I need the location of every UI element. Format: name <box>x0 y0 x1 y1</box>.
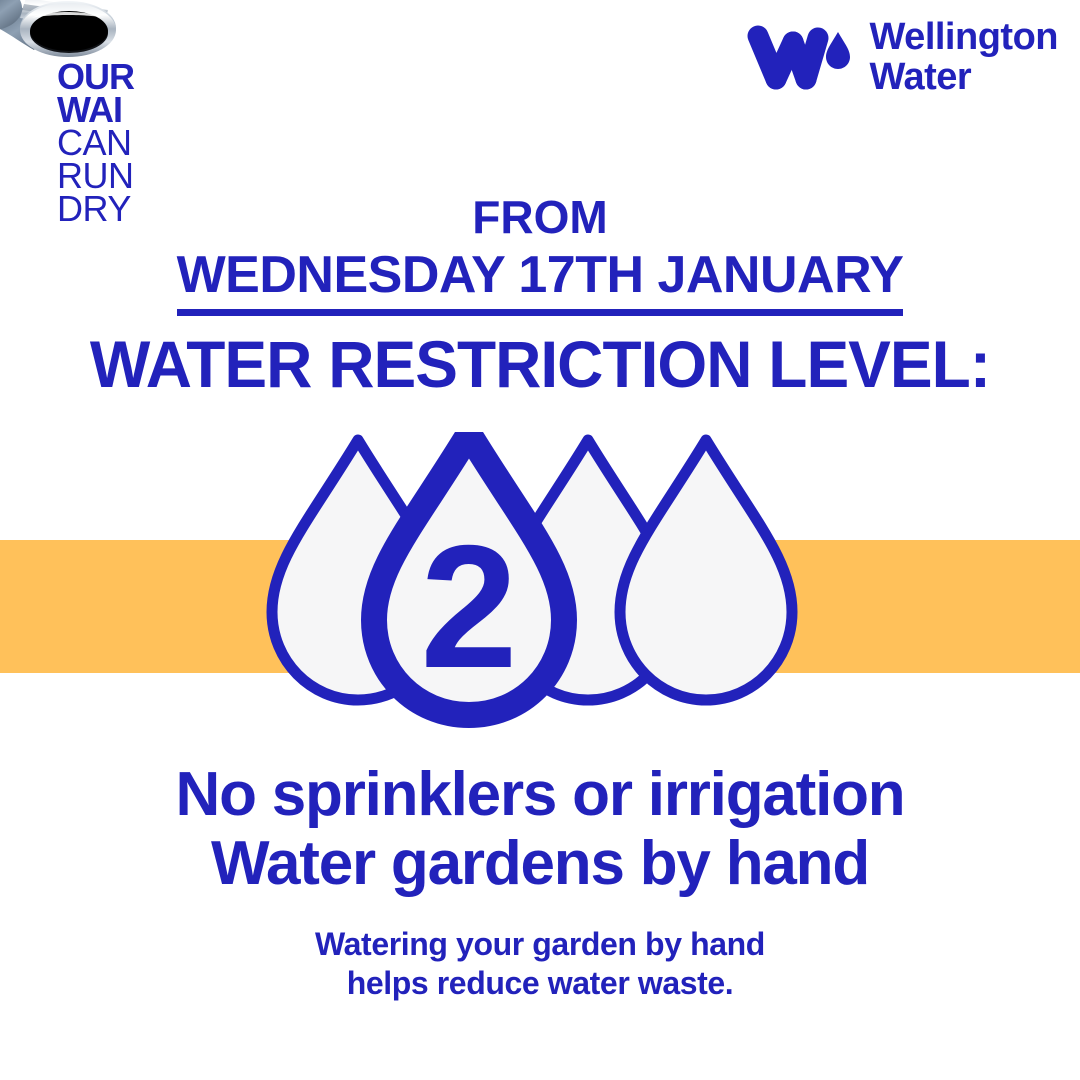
wellington-water-logo: Wellington Water <box>744 18 1059 97</box>
headline-date-block: FROM WEDNESDAY 17TH JANUARY <box>0 193 1080 316</box>
drop-level-2-active: 2 <box>374 434 564 715</box>
restriction-subtext-line-2: helps reduce water waste. <box>0 964 1080 1003</box>
wellington-water-wordmark: Wellington Water <box>870 18 1059 97</box>
restriction-subtext-line-1: Watering your garden by hand <box>0 925 1080 964</box>
current-level-number: 2 <box>420 510 517 705</box>
page-title: WATER RESTRICTION LEVEL: <box>16 330 1064 399</box>
restriction-message-line-1: No sprinklers or irrigation <box>0 760 1080 829</box>
restriction-message-line-2: Water gardens by hand <box>0 829 1080 898</box>
from-label: FROM <box>0 193 1080 242</box>
wellington-water-w-droplet-mark <box>744 22 852 94</box>
drop-level-4 <box>620 440 792 700</box>
restriction-subtext: Watering your garden by hand helps reduc… <box>0 925 1080 1003</box>
water-restriction-poster: OUR WAI CAN RUN DRY Wellington Water FRO… <box>0 0 1080 1080</box>
restriction-start-date-text: WEDNESDAY 17TH JANUARY <box>177 246 904 316</box>
restriction-start-date: WEDNESDAY 17TH JANUARY <box>0 246 1080 316</box>
logo-line-1: Wellington <box>870 18 1059 58</box>
restriction-message: No sprinklers or irrigation Water garden… <box>0 760 1080 899</box>
water-restriction-level-drops: 2 <box>258 432 822 752</box>
logo-line-2: Water <box>870 58 1059 98</box>
